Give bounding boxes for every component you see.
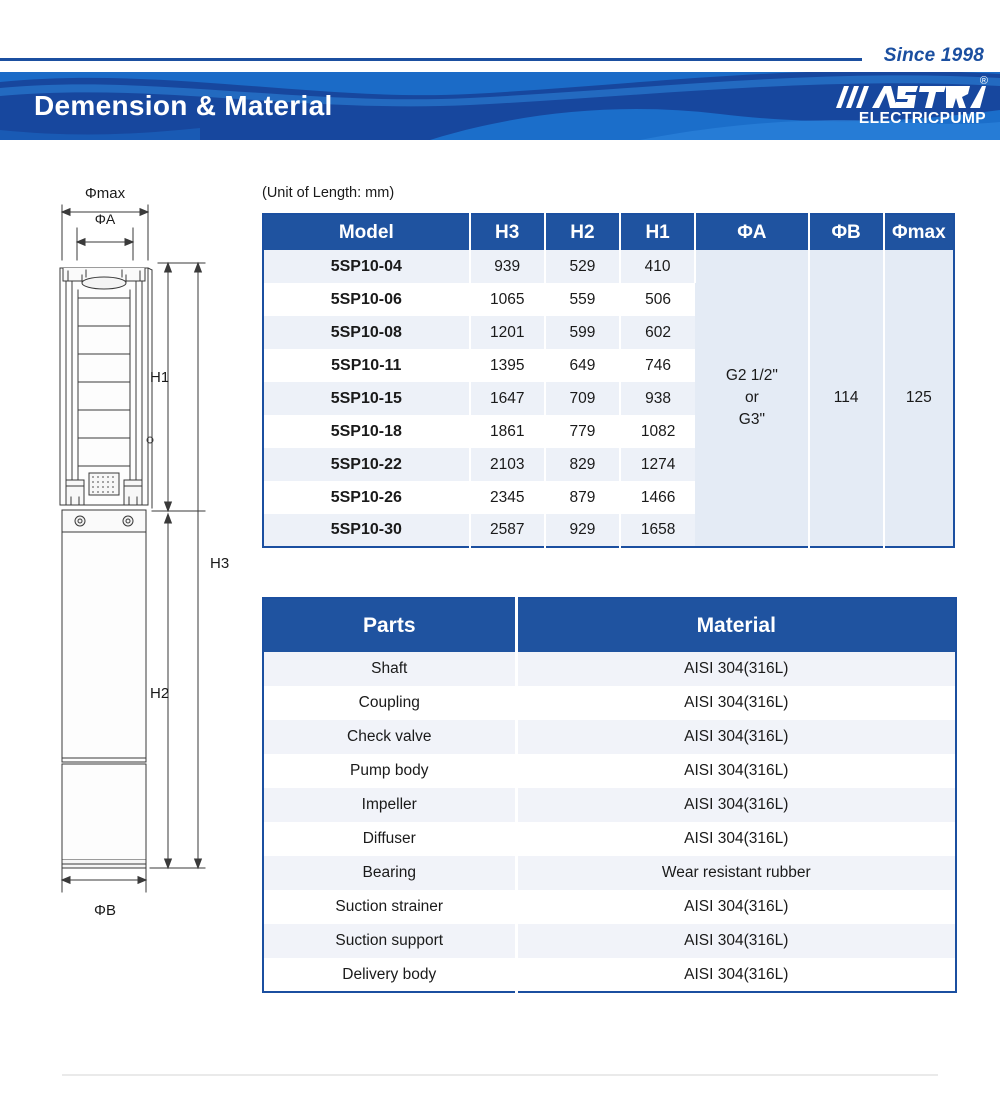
cell-part: Coupling [263,686,516,720]
label-phi-a: ΦA [95,211,116,227]
cell-h1: 1658 [620,514,695,547]
dimension-table: Model H3 H2 H1 ΦA ΦB Φmax 5SP10-04 939 5… [262,213,955,548]
pump-dimension-drawing: Φmax ΦA ΦB H1 H2 H3 [0,150,260,930]
table-row: Delivery body AISI 304(316L) [263,958,956,992]
cell-h1: 602 [620,316,695,349]
header-rule [0,58,862,61]
cell-model: 5SP10-11 [263,349,470,382]
unit-note: (Unit of Length: mm) [262,185,394,201]
cell-phi-max: 125 [884,250,954,547]
cell-h3: 939 [470,250,545,283]
label-phi-b: ΦB [94,902,116,919]
cell-part: Shaft [263,652,516,686]
cell-material: AISI 304(316L) [516,686,956,720]
cell-material: AISI 304(316L) [516,720,956,754]
registered-trademark-icon: ® [980,76,988,87]
dimension-table-container: Model H3 H2 H1 ΦA ΦB Φmax 5SP10-04 939 5… [262,213,955,548]
cell-h2: 879 [545,481,620,514]
cell-model: 5SP10-04 [263,250,470,283]
cell-phi-a: G2 1/2" or G3" [695,250,808,547]
label-h2: H2 [150,685,169,702]
cell-material: AISI 304(316L) [516,822,956,856]
column-header-model: Model [263,214,470,250]
cell-h3: 2587 [470,514,545,547]
cell-part: Bearing [263,856,516,890]
table-row: Coupling AISI 304(316L) [263,686,956,720]
cell-part: Suction strainer [263,890,516,924]
cell-part: Impeller [263,788,516,822]
cell-part: Suction support [263,924,516,958]
cell-part: Check valve [263,720,516,754]
column-header-parts: Parts [263,598,516,652]
brand-logo: ® ELECTRICPUMP [834,85,986,127]
cell-material: AISI 304(316L) [516,754,956,788]
cell-material: AISI 304(316L) [516,652,956,686]
label-h3: H3 [210,555,229,572]
cell-h2: 929 [545,514,620,547]
cell-h1: 506 [620,283,695,316]
cell-phi-b: 114 [809,250,884,547]
cell-h3: 1201 [470,316,545,349]
cell-model: 5SP10-22 [263,448,470,481]
column-header-phi-b: ΦB [809,214,884,250]
cell-h1: 410 [620,250,695,283]
footer-rule [62,1074,938,1076]
table-row: 5SP10-04 939 529 410 G2 1/2" or G3" 114 … [263,250,954,283]
cell-h1: 1466 [620,481,695,514]
cell-h2: 709 [545,382,620,415]
datasheet-page: Since 1998 Demension & Material [0,0,1000,1107]
cell-h2: 559 [545,283,620,316]
top-strip: Since 1998 [0,0,1000,72]
cell-h2: 779 [545,415,620,448]
cell-h2: 599 [545,316,620,349]
mastra-wordmark-icon: ® [834,85,986,109]
material-table-container: Parts Material Shaft AISI 304(316L) Coup… [262,597,955,993]
cell-h3: 2103 [470,448,545,481]
column-header-material: Material [516,598,956,652]
cell-h2: 529 [545,250,620,283]
table-row: Pump body AISI 304(316L) [263,754,956,788]
column-header-phi-max: Φmax [884,214,954,250]
label-h1: H1 [150,369,169,386]
table-row: Suction support AISI 304(316L) [263,924,956,958]
cell-model: 5SP10-06 [263,283,470,316]
cell-h1: 746 [620,349,695,382]
logo-subtitle: ELECTRICPUMP [834,110,986,127]
cell-model: 5SP10-15 [263,382,470,415]
cell-material: AISI 304(316L) [516,890,956,924]
cell-part: Diffuser [263,822,516,856]
material-table: Parts Material Shaft AISI 304(316L) Coup… [262,597,957,993]
since-label: Since 1998 [884,45,984,67]
cell-model: 5SP10-26 [263,481,470,514]
cell-h2: 829 [545,448,620,481]
cell-model: 5SP10-18 [263,415,470,448]
cell-h1: 938 [620,382,695,415]
cell-material: AISI 304(316L) [516,788,956,822]
column-header-h3: H3 [470,214,545,250]
label-phi-max: Φmax [85,185,126,202]
material-table-header-row: Parts Material [263,598,956,652]
table-row: Shaft AISI 304(316L) [263,652,956,686]
dimension-table-header-row: Model H3 H2 H1 ΦA ΦB Φmax [263,214,954,250]
page-title: Demension & Material [34,90,333,122]
column-header-phi-a: ΦA [695,214,808,250]
cell-h3: 1065 [470,283,545,316]
cell-h3: 1395 [470,349,545,382]
column-header-h2: H2 [545,214,620,250]
cell-material: AISI 304(316L) [516,958,956,992]
table-row: Bearing Wear resistant rubber [263,856,956,890]
table-row: Suction strainer AISI 304(316L) [263,890,956,924]
table-row: Check valve AISI 304(316L) [263,720,956,754]
table-row: Impeller AISI 304(316L) [263,788,956,822]
cell-h2: 649 [545,349,620,382]
column-header-h1: H1 [620,214,695,250]
table-row: Diffuser AISI 304(316L) [263,822,956,856]
cell-h3: 1647 [470,382,545,415]
cell-h1: 1082 [620,415,695,448]
cell-model: 5SP10-08 [263,316,470,349]
cell-h1: 1274 [620,448,695,481]
cell-h3: 1861 [470,415,545,448]
cell-model: 5SP10-30 [263,514,470,547]
cell-part: Pump body [263,754,516,788]
cell-material: Wear resistant rubber [516,856,956,890]
cell-h3: 2345 [470,481,545,514]
cell-part: Delivery body [263,958,516,992]
page-banner: Demension & Material ® [0,72,1000,140]
cell-material: AISI 304(316L) [516,924,956,958]
